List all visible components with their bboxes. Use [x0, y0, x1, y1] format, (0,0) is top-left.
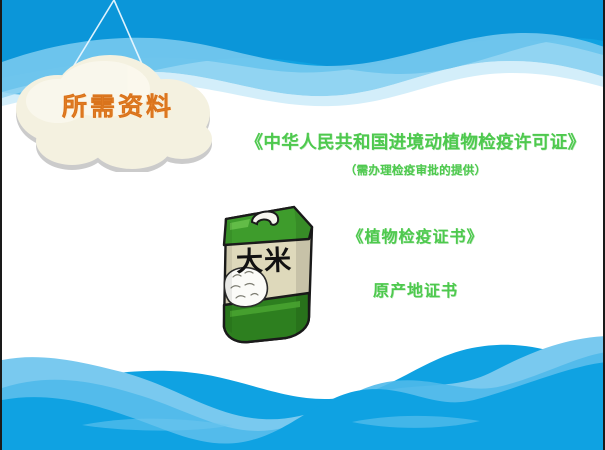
wave-bottom-mid [2, 352, 605, 450]
document-item-import-quarantine-permit: 《中华人民共和国进境动植物检疫许可证》 [224, 130, 605, 156]
cloud-banner: 所需资料 [6, 52, 224, 172]
rice-bag-illustration: 大米 [208, 193, 320, 345]
wave-bottom-light [2, 336, 605, 450]
wave-foam-1 [82, 419, 232, 431]
banner-title: 所需资料 [6, 52, 224, 172]
wave-bottom-front [2, 362, 605, 450]
document-item-import-quarantine-permit-note: （需办理检疫审批的提供） [224, 159, 605, 181]
wave-foam-2 [352, 416, 480, 428]
rice-bag-label: 大米 [225, 238, 302, 280]
slide-canvas: 所需资料 《中华人民共和国进境动植物检疫许可证》 （需办理检疫审批的提供） 《植… [0, 0, 605, 450]
